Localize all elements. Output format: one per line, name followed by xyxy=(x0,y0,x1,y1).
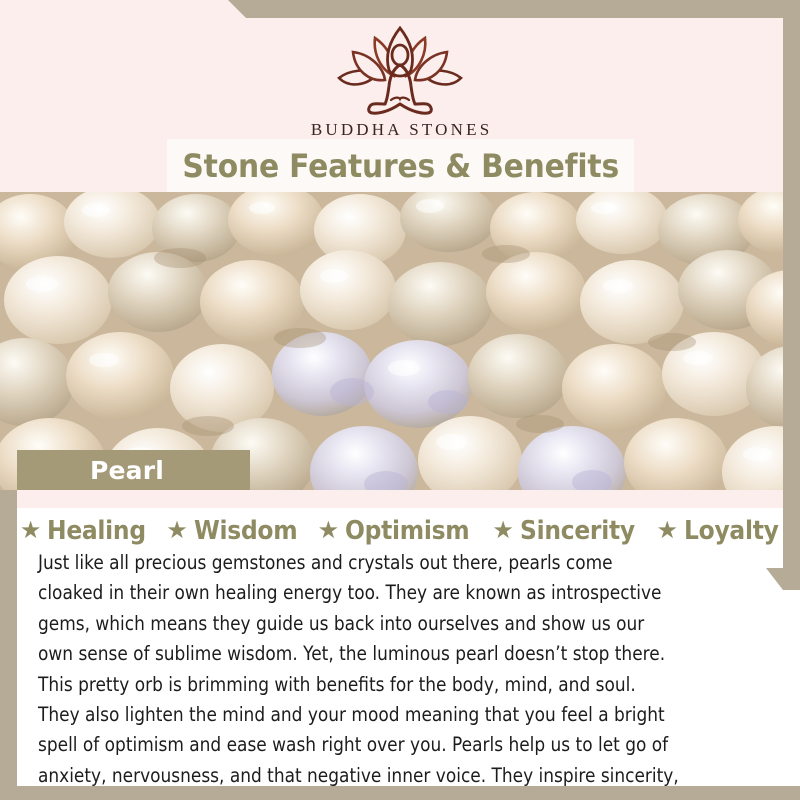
benefit-item: ★ Healing xyxy=(11,516,157,546)
lotus-meditation-icon xyxy=(315,24,485,116)
frame-left xyxy=(0,490,17,786)
frame-right xyxy=(783,0,800,586)
benefit-item: ★ Wisdom xyxy=(157,516,308,546)
brand-logo: BUDDHA STONES xyxy=(0,24,800,140)
description-text: Just like all precious gemstones and cry… xyxy=(38,548,682,800)
poster-root: BUDDHA STONES Stone Features & Benefits xyxy=(0,0,800,800)
title-card: Stone Features & Benefits xyxy=(167,139,634,192)
benefit-item: ★ Loyalty xyxy=(647,516,789,546)
star-icon: ★ xyxy=(166,519,188,543)
pearl-photo-image xyxy=(0,192,800,492)
star-icon: ★ xyxy=(656,519,678,543)
star-icon: ★ xyxy=(20,519,42,543)
frame-bottom xyxy=(0,786,800,800)
star-icon: ★ xyxy=(318,519,340,543)
stone-name: Pearl xyxy=(90,456,164,485)
benefits-row: ★ Healing ★ Wisdom ★ Optimism ★ Sincerit… xyxy=(17,516,783,546)
content-card-tint xyxy=(17,490,783,508)
benefit-item: ★ Optimism xyxy=(309,516,484,546)
benefit-item: ★ Sincerity xyxy=(483,516,647,546)
benefit-label: Healing xyxy=(47,516,146,546)
stone-name-banner: Pearl xyxy=(17,450,250,491)
star-icon: ★ xyxy=(492,519,514,543)
brand-name: BUDDHA STONES xyxy=(0,120,800,140)
benefit-label: Loyalty xyxy=(684,516,779,546)
benefit-label: Sincerity xyxy=(520,516,635,546)
page-title: Stone Features & Benefits xyxy=(182,147,619,185)
benefit-label: Optimism xyxy=(345,516,469,546)
benefit-label: Wisdom xyxy=(194,516,297,546)
pearl-photo xyxy=(0,192,800,492)
